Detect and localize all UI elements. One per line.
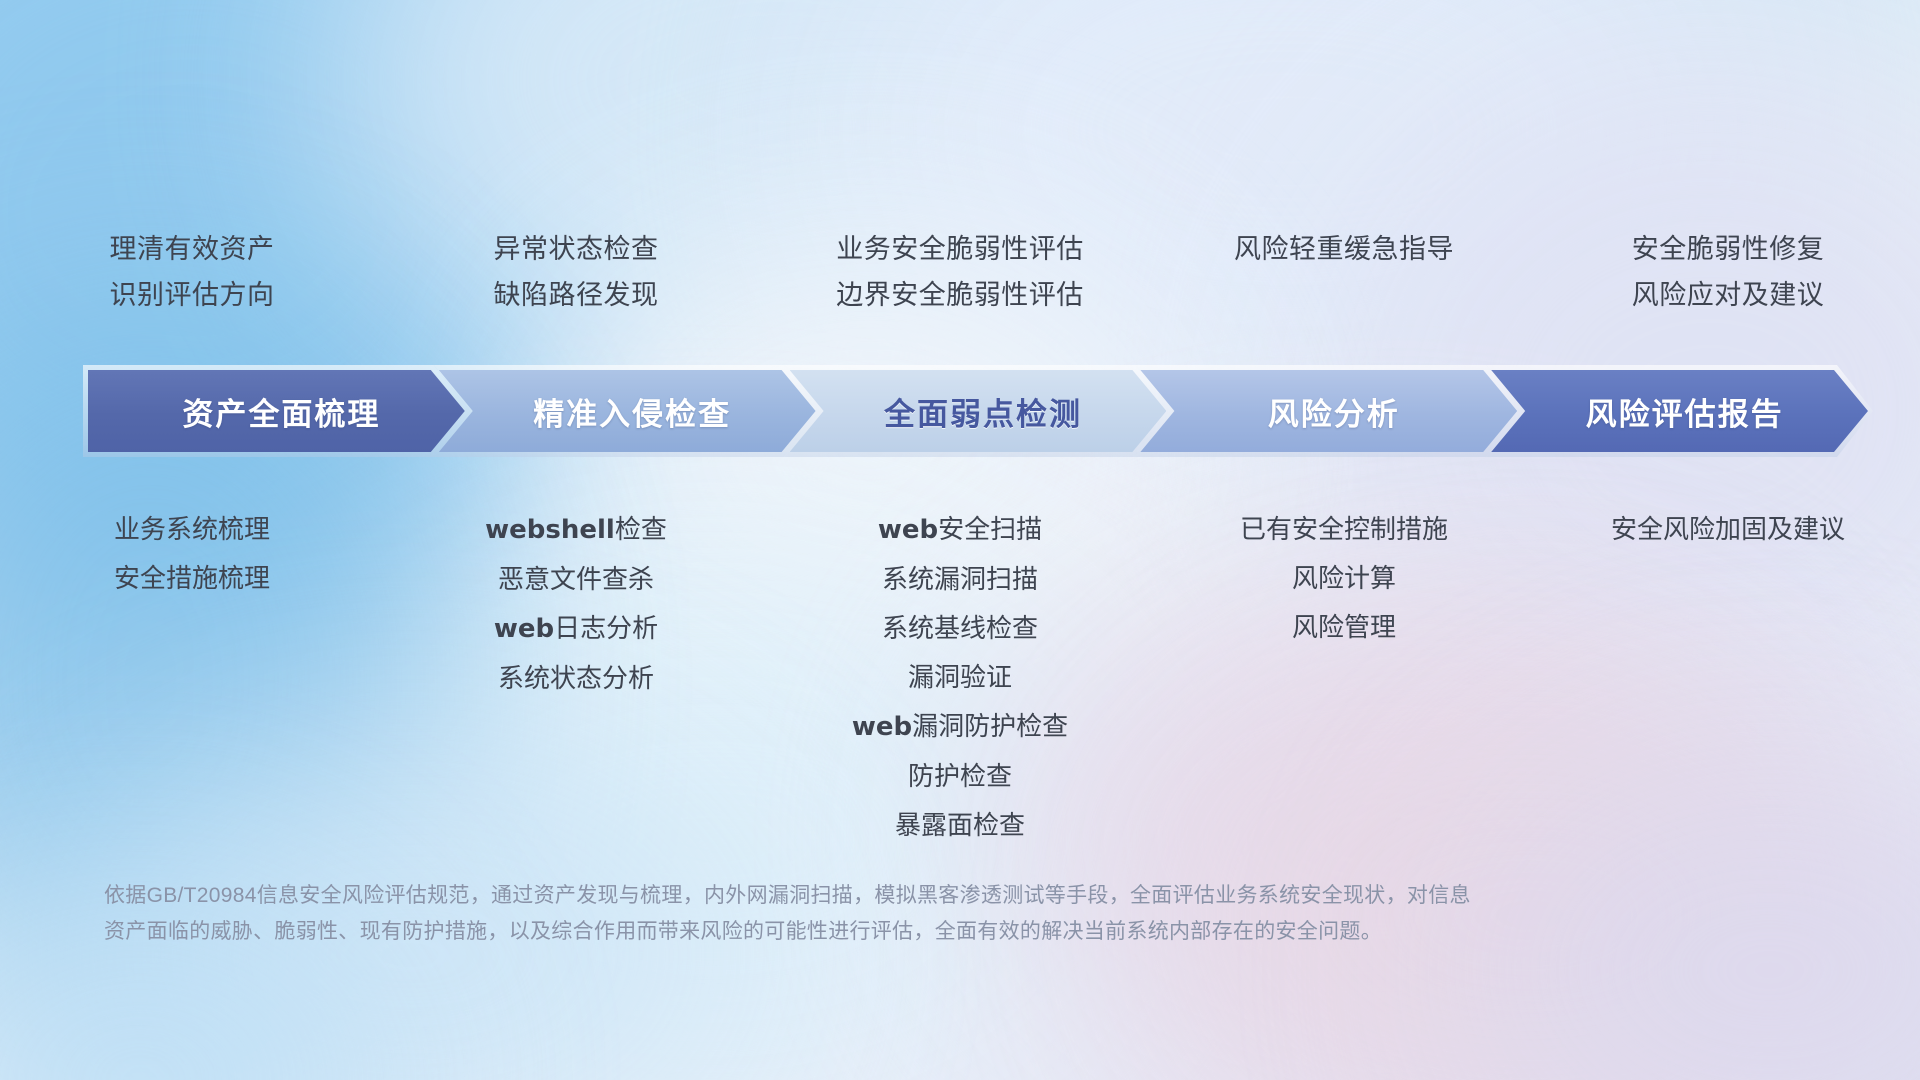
top-outcome-label: 异常状态检查 xyxy=(494,226,659,272)
top-outcome-label: 理清有效资产 xyxy=(110,226,275,272)
activities-intrusion-check: webshell检查恶意文件查杀web日志分析系统状态分析 xyxy=(384,505,768,703)
footer-line-2: 资产面临的威胁、脆弱性、现有防护措施，以及综合作用而带来风险的可能性进行评估，全… xyxy=(104,914,1644,950)
activities-risk-report: 安全风险加固及建议 xyxy=(1536,505,1920,554)
footer-description: 依据GB/T20984信息安全风险评估规范，通过资产发现与梳理，内外网漏洞扫描，… xyxy=(104,878,1644,950)
stage-label: 风险评估报告 xyxy=(1491,389,1868,434)
top-outcome-label: 风险轻重缓急指导 xyxy=(1234,226,1454,272)
activity-item-cn: 日志分析 xyxy=(554,613,658,643)
stage-chevron-risk-report[interactable]: 风险评估报告 xyxy=(1491,370,1868,452)
top-outcome-label: 识别评估方向 xyxy=(110,272,275,318)
top-outcomes-asset-inventory: 理清有效资产识别评估方向 xyxy=(0,226,384,318)
activity-item-en: web xyxy=(878,515,938,545)
footer-line-1: 依据GB/T20984信息安全风险评估规范，通过资产发现与梳理，内外网漏洞扫描，… xyxy=(104,878,1644,914)
stage-label: 风险分析 xyxy=(1140,389,1517,434)
activity-item-cn: 检查 xyxy=(615,514,667,544)
stage-label: 资产全面梳理 xyxy=(88,389,465,434)
process-chevron-band: 资产全面梳理精准入侵检查全面弱点检测风险分析风险评估报告 xyxy=(88,370,1868,452)
top-outcomes-risk-report: 安全脆弱性修复风险应对及建议 xyxy=(1536,226,1920,318)
top-outcomes-row: 理清有效资产识别评估方向异常状态检查缺陷路径发现业务安全脆弱性评估边界安全脆弱性… xyxy=(0,226,1920,322)
activity-item: 安全措施梳理 xyxy=(114,554,270,603)
activity-item: webshell检查 xyxy=(485,505,667,555)
activity-item: 暴露面检查 xyxy=(895,801,1025,850)
activity-item: 风险管理 xyxy=(1292,603,1396,652)
activity-item: web漏洞防护检查 xyxy=(852,702,1068,752)
activity-item: 已有安全控制措施 xyxy=(1240,505,1448,554)
activity-item-cn: 安全扫描 xyxy=(938,514,1042,544)
activities-weakness-detection: web安全扫描系统漏洞扫描系统基线检查漏洞验证web漏洞防护检查防护检查暴露面检… xyxy=(768,505,1152,850)
stage-chevron-intrusion-check[interactable]: 精准入侵检查 xyxy=(439,370,816,452)
stage-label: 全面弱点检测 xyxy=(790,389,1167,434)
top-outcome-label: 缺陷路径发现 xyxy=(494,272,659,318)
stage-label: 精准入侵检查 xyxy=(439,389,816,434)
activity-item-cn: 漏洞防护检查 xyxy=(912,711,1068,741)
activity-item: 风险计算 xyxy=(1292,554,1396,603)
activity-item: 业务系统梳理 xyxy=(114,505,270,554)
stage-chevron-risk-analysis[interactable]: 风险分析 xyxy=(1140,370,1517,452)
top-outcome-label: 边界安全脆弱性评估 xyxy=(836,272,1084,318)
activity-item: 系统漏洞扫描 xyxy=(882,555,1038,604)
top-outcomes-risk-analysis: 风险轻重缓急指导 xyxy=(1152,226,1536,322)
stage-chevron-asset-inventory[interactable]: 资产全面梳理 xyxy=(88,370,465,452)
activity-item: 安全风险加固及建议 xyxy=(1611,505,1845,554)
activity-item: 系统状态分析 xyxy=(498,654,654,703)
top-outcomes-intrusion-check: 异常状态检查缺陷路径发现 xyxy=(384,226,768,318)
top-outcome-label: 业务安全脆弱性评估 xyxy=(836,226,1084,272)
top-outcome-label: 风险应对及建议 xyxy=(1632,272,1825,318)
activities-asset-inventory: 业务系统梳理安全措施梳理 xyxy=(0,505,384,603)
activity-item: 恶意文件查杀 xyxy=(498,555,654,604)
activity-item: web安全扫描 xyxy=(878,505,1042,555)
stage-chevron-weakness-detection[interactable]: 全面弱点检测 xyxy=(790,370,1167,452)
activities-risk-analysis: 已有安全控制措施风险计算风险管理 xyxy=(1152,505,1536,652)
top-outcomes-weakness-detection: 业务安全脆弱性评估边界安全脆弱性评估 xyxy=(768,226,1152,318)
activity-item: 漏洞验证 xyxy=(908,653,1012,702)
activity-item: 系统基线检查 xyxy=(882,604,1038,653)
activity-item-en: webshell xyxy=(485,515,615,545)
activity-item: 防护检查 xyxy=(908,752,1012,801)
activity-item-en: web xyxy=(494,614,554,644)
activity-item: web日志分析 xyxy=(494,604,658,654)
top-outcome-label: 安全脆弱性修复 xyxy=(1632,226,1825,272)
activity-item-en: web xyxy=(852,712,912,742)
bottom-activities-row: 业务系统梳理安全措施梳理webshell检查恶意文件查杀web日志分析系统状态分… xyxy=(0,505,1920,805)
